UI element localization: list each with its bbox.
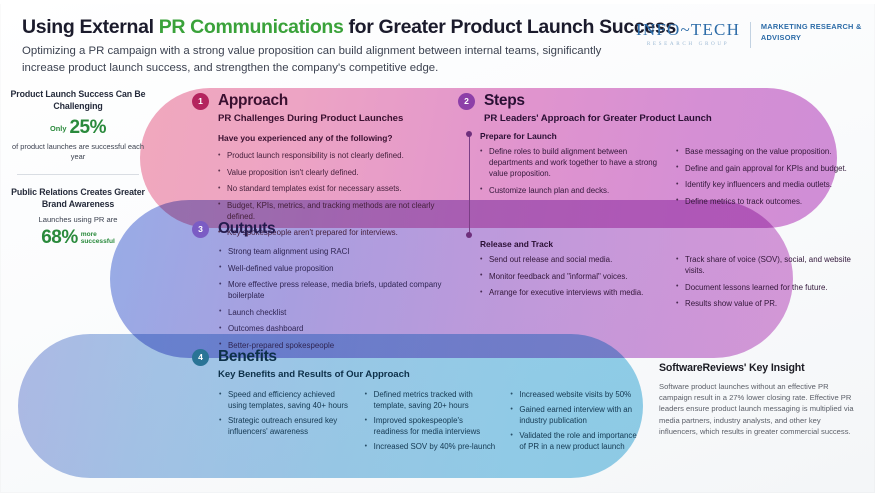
group-column-left: Define roles to build alignment between …: [480, 146, 662, 212]
section-number-badge: 2: [458, 93, 475, 110]
list-item: Identify key influencers and media outle…: [676, 179, 858, 190]
list-item: More effective press release, media brie…: [219, 279, 458, 301]
list-item: Strategic outreach ensured key influence…: [219, 415, 351, 437]
section-number-badge: 3: [192, 221, 209, 238]
bullet-list: Send out release and social media. Monit…: [480, 254, 662, 298]
list-item: Speed and efficiency achieved using temp…: [219, 389, 351, 411]
key-insight-panel: SoftwareReviews' Key Insight Software pr…: [659, 362, 859, 437]
logo-wordmark: INFO~TECH: [636, 20, 740, 40]
list-item: Defined metrics tracked with template, s…: [365, 389, 497, 411]
list-item: Outcomes dashboard: [219, 323, 458, 334]
list-item: Budget, KPIs, metrics, and tracking meth…: [218, 200, 454, 222]
list-item: Customize launch plan and decks.: [480, 185, 662, 196]
bullet-list: Speed and efficiency achieved using temp…: [219, 389, 351, 437]
list-item: Product launch responsibility is not cle…: [218, 150, 454, 161]
section-title: Approach: [218, 92, 288, 110]
stat-value-row: Only 25%: [8, 117, 148, 139]
list-item: Increased website visits by 50%: [510, 389, 642, 400]
list-item: Monitor feedback and "informal" voices.: [480, 271, 662, 282]
logo-subtext: RESEARCH GROUP: [647, 41, 729, 47]
group-column-left: Send out release and social media. Monit…: [480, 254, 662, 315]
list-item: Well-defined value proposition: [219, 263, 458, 274]
list-item: Track share of voice (SOV), social, and …: [676, 254, 858, 276]
section-title: Benefits: [218, 348, 277, 366]
steps-group-prepare: Prepare for Launch Define roles to build…: [480, 131, 858, 212]
stat-suffix: more successful: [81, 231, 115, 246]
list-item: Strong team alignment using RACI: [219, 246, 458, 257]
list-item: Define and gain approval for KPIs and bu…: [676, 163, 858, 174]
group-label: Prepare for Launch: [480, 131, 858, 141]
outputs-bullet-list: Strong team alignment using RACI Well-de…: [219, 246, 458, 351]
stats-divider: [17, 174, 139, 175]
list-item: Value proposition isn't clearly defined.: [218, 167, 454, 178]
stat-heading: Public Relations Creates Greater Brand A…: [8, 186, 148, 210]
group-column-right: Base messaging on the value proposition.…: [676, 146, 858, 212]
section-title: Outputs: [218, 220, 275, 238]
section-steps: 2 Steps PR Leaders' Approach for Greater…: [458, 92, 858, 124]
stat-value: 25%: [69, 117, 106, 139]
section-subtitle: PR Leaders' Approach for Greater Product…: [484, 113, 858, 124]
section-number-badge: 1: [192, 93, 209, 110]
list-item: Document lessons learned for the future.: [676, 282, 858, 293]
group-label: Release and Track: [480, 239, 858, 249]
section-header: 4 Benefits: [192, 348, 642, 366]
stat-block-launch-success: Product Launch Success Can Be Challengin…: [8, 88, 148, 162]
info-tech-logo: INFO~TECH RESEARCH GROUP MARKETING RESEA…: [636, 20, 875, 48]
list-item: Send out release and social media.: [480, 254, 662, 265]
group-column-right: Track share of voice (SOV), social, and …: [676, 254, 858, 315]
list-item: Results show value of PR.: [676, 298, 858, 309]
infographic-page: Using External PR Communications for Gre…: [0, 0, 875, 493]
logo-mark: INFO~TECH RESEARCH GROUP: [636, 20, 740, 47]
stat-prefix: Only: [50, 124, 66, 133]
key-insight-body: Software product launches without an eff…: [659, 381, 859, 437]
bullet-list: Track share of voice (SOV), social, and …: [676, 254, 858, 309]
stat-block-brand-awareness: Public Relations Creates Greater Brand A…: [8, 186, 148, 249]
timeline-dot-bottom: [466, 232, 472, 238]
list-item: Define roles to build alignment between …: [480, 146, 662, 179]
bullet-list: Define roles to build alignment between …: [480, 146, 662, 196]
stat-note: of product launches are successful each …: [8, 142, 148, 162]
page-title-highlight: PR Communications: [159, 16, 344, 38]
section-number-badge: 4: [192, 349, 209, 366]
stat-heading: Product Launch Success Can Be Challengin…: [8, 88, 148, 112]
section-header: 2 Steps: [458, 92, 858, 110]
stat-suffix-line1: more: [81, 231, 97, 238]
section-header: 1 Approach: [192, 92, 454, 110]
section-subtitle: Key Benefits and Results of Our Approach: [218, 369, 642, 380]
benefits-column-3: Increased website visits by 50% Gained e…: [510, 389, 642, 457]
list-item: Define metrics to track outcomes.: [676, 196, 858, 207]
timeline-line: [469, 134, 470, 235]
stat-value-row: 68% more successful: [8, 227, 148, 249]
benefits-column-2: Defined metrics tracked with template, s…: [365, 389, 497, 457]
list-item: Base messaging on the value proposition.: [676, 146, 858, 157]
list-item: Increased SOV by 40% pre-launch: [365, 441, 497, 452]
section-benefits: 4 Benefits Key Benefits and Results of O…: [192, 348, 642, 457]
key-insight-title: SoftwareReviews' Key Insight: [659, 362, 859, 374]
stats-rail: Product Launch Success Can Be Challengin…: [8, 88, 148, 249]
logo-divider: [750, 22, 751, 48]
list-item: Validated the role and importance of PR …: [510, 430, 642, 452]
page-title-pre: Using External: [22, 16, 159, 38]
bullet-list: Defined metrics tracked with template, s…: [365, 389, 497, 452]
group-columns: Define roles to build alignment between …: [480, 146, 858, 212]
benefits-column-1: Speed and efficiency achieved using temp…: [219, 389, 351, 457]
logo-tagline: MARKETING RESEARCH & ADVISORY: [761, 20, 875, 43]
section-question: Have you experienced any of the followin…: [218, 133, 454, 143]
page-subtitle: Optimizing a PR campaign with a strong v…: [22, 43, 632, 76]
stat-lead: Launches using PR are: [8, 215, 148, 225]
list-item: Gained earned interview with an industry…: [510, 404, 642, 426]
bullet-list: Base messaging on the value proposition.…: [676, 146, 858, 207]
page-header: Using External PR Communications for Gre…: [0, 0, 875, 84]
section-title: Steps: [484, 92, 525, 110]
benefits-columns: Speed and efficiency achieved using temp…: [219, 389, 642, 457]
stat-value: 68%: [41, 227, 78, 249]
page-title: Using External PR Communications for Gre…: [22, 16, 676, 39]
stat-suffix-line2: successful: [81, 238, 115, 245]
section-outputs: 3 Outputs Strong team alignment using RA…: [192, 220, 458, 357]
section-subtitle: PR Challenges During Product Launches: [218, 113, 454, 124]
list-item: Arrange for executive interviews with me…: [480, 287, 662, 298]
list-item: Improved spokespeople's readiness for me…: [365, 415, 497, 437]
bullet-list: Increased website visits by 50% Gained e…: [510, 389, 642, 452]
steps-group-release: Release and Track Send out release and s…: [480, 239, 858, 315]
list-item: Launch checklist: [219, 307, 458, 318]
timeline-dot-top: [466, 131, 472, 137]
list-item: No standard templates exist for necessar…: [218, 183, 454, 194]
page-title-post: for Greater Product Launch Success: [343, 16, 675, 38]
section-header: 3 Outputs: [192, 220, 458, 238]
group-columns: Send out release and social media. Monit…: [480, 254, 858, 315]
